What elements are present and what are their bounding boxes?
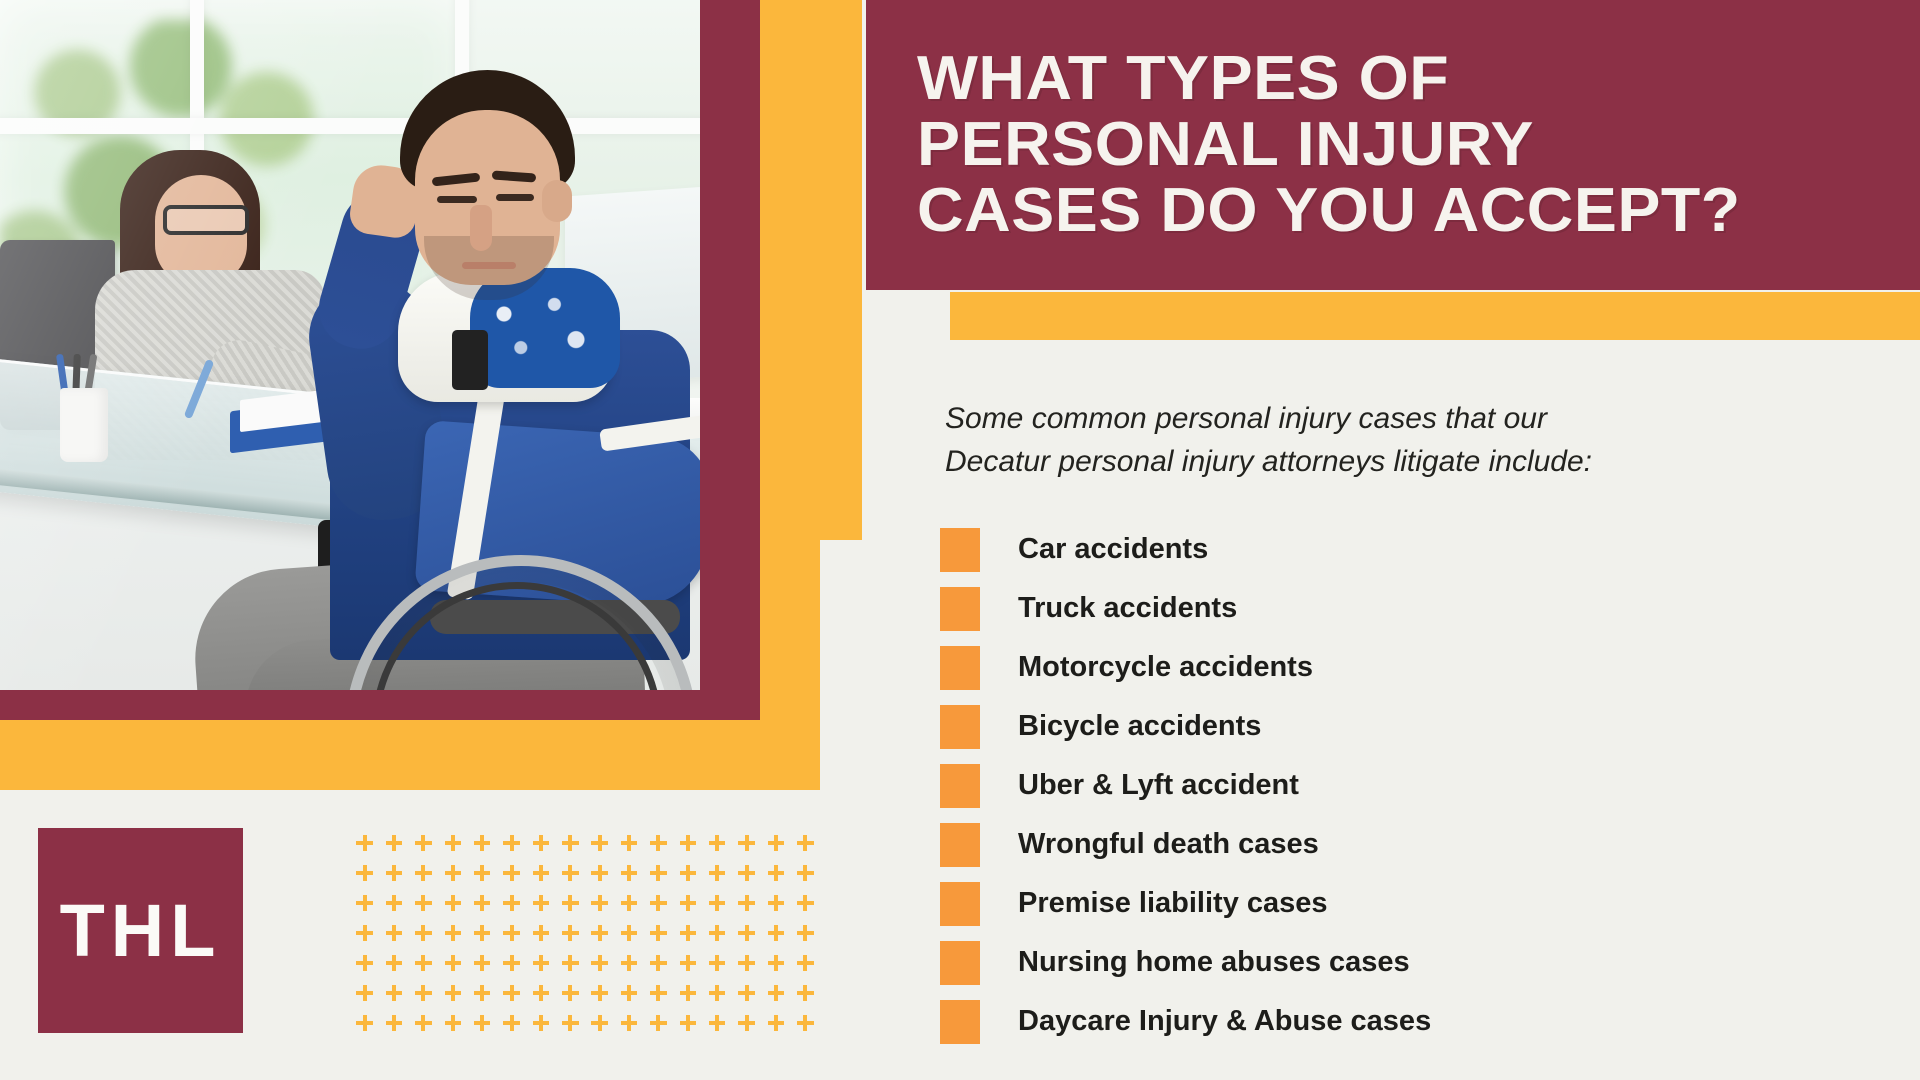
plus-icon xyxy=(761,948,790,978)
plus-icon xyxy=(438,858,467,888)
plus-icon xyxy=(644,918,673,948)
neck-brace-clip xyxy=(452,330,488,390)
plus-icon xyxy=(556,918,585,948)
plus-icon xyxy=(673,1008,702,1038)
plus-icon xyxy=(556,948,585,978)
plus-icon xyxy=(526,828,555,858)
neck-brace-pattern xyxy=(480,290,600,370)
plus-icon xyxy=(761,858,790,888)
list-item-label: Motorcycle accidents xyxy=(1018,651,1313,684)
square-bullet-icon xyxy=(940,587,980,631)
plus-icon xyxy=(732,948,761,978)
plus-icon xyxy=(438,918,467,948)
plus-icon xyxy=(438,948,467,978)
plus-icon xyxy=(379,918,408,948)
plus-icon xyxy=(791,948,820,978)
plus-icon xyxy=(438,1008,467,1038)
plus-icon xyxy=(526,888,555,918)
plus-icon xyxy=(761,978,790,1008)
plus-icon xyxy=(468,918,497,948)
plus-icon xyxy=(791,918,820,948)
plus-icon xyxy=(526,858,555,888)
plus-icon xyxy=(644,828,673,858)
plus-icon xyxy=(614,828,643,858)
plus-icon xyxy=(350,918,379,948)
plus-icon xyxy=(585,948,614,978)
plus-icon xyxy=(468,978,497,1008)
plus-icon xyxy=(468,828,497,858)
square-bullet-icon xyxy=(940,1000,980,1044)
cross-pattern-decoration xyxy=(350,828,820,1038)
plus-icon xyxy=(409,978,438,1008)
list-item: Premise liability cases xyxy=(940,874,1840,933)
plus-icon xyxy=(585,828,614,858)
plus-icon xyxy=(644,1008,673,1038)
logo: THL xyxy=(38,828,243,1033)
plus-icon xyxy=(497,828,526,858)
plus-icon xyxy=(468,948,497,978)
infographic-canvas: WHAT TYPES OF PERSONAL INJURY CASES DO Y… xyxy=(0,0,1920,1080)
page-title: WHAT TYPES OF PERSONAL INJURY CASES DO Y… xyxy=(890,46,1741,243)
plus-icon xyxy=(673,978,702,1008)
plus-icon xyxy=(556,858,585,888)
plus-icon xyxy=(673,828,702,858)
list-item-label: Car accidents xyxy=(1018,533,1208,566)
title-yellow-strip xyxy=(820,0,862,540)
case-types-list: Car accidents Truck accidents Motorcycle… xyxy=(940,520,1840,1051)
plus-icon xyxy=(526,1008,555,1038)
square-bullet-icon xyxy=(940,882,980,926)
logo-text: THL xyxy=(60,888,222,973)
plus-icon xyxy=(497,948,526,978)
plus-icon xyxy=(556,1008,585,1038)
list-item: Daycare Injury & Abuse cases xyxy=(940,992,1840,1051)
plus-icon xyxy=(409,858,438,888)
plus-icon xyxy=(556,828,585,858)
plus-icon xyxy=(409,888,438,918)
list-item-label: Daycare Injury & Abuse cases xyxy=(1018,1005,1431,1038)
plus-icon xyxy=(409,828,438,858)
page-title-line-2: PERSONAL INJURY xyxy=(917,112,1741,178)
plus-icon xyxy=(556,978,585,1008)
plus-icon xyxy=(703,858,732,888)
list-item: Wrongful death cases xyxy=(940,815,1840,874)
plus-icon xyxy=(703,978,732,1008)
plus-icon xyxy=(438,888,467,918)
plus-icon xyxy=(732,978,761,1008)
list-item: Motorcycle accidents xyxy=(940,638,1840,697)
plus-icon xyxy=(644,948,673,978)
page-title-line-3: CASES DO YOU ACCEPT? xyxy=(917,178,1741,244)
subtitle-line-2: Decatur personal injury attorneys litiga… xyxy=(945,441,1805,484)
plus-icon xyxy=(703,828,732,858)
subtitle-line-1: Some common personal injury cases that o… xyxy=(945,398,1805,441)
plus-icon xyxy=(379,828,408,858)
plus-icon xyxy=(761,828,790,858)
photo-scene xyxy=(0,0,700,690)
plus-icon xyxy=(732,888,761,918)
plus-icon xyxy=(526,948,555,978)
plus-icon xyxy=(409,948,438,978)
list-item-label: Bicycle accidents xyxy=(1018,710,1261,743)
list-item-label: Uber & Lyft accident xyxy=(1018,769,1299,802)
list-item-label: Wrongful death cases xyxy=(1018,828,1319,861)
title-maroon-left-strip xyxy=(866,0,892,290)
list-item-label: Nursing home abuses cases xyxy=(1018,946,1410,979)
plus-icon xyxy=(379,1008,408,1038)
plus-icon xyxy=(732,1008,761,1038)
plus-icon xyxy=(379,948,408,978)
plus-icon xyxy=(703,1008,732,1038)
square-bullet-icon xyxy=(940,646,980,690)
plus-icon xyxy=(614,978,643,1008)
plus-icon xyxy=(526,978,555,1008)
plus-icon xyxy=(585,978,614,1008)
plus-icon xyxy=(791,1008,820,1038)
plus-icon xyxy=(791,978,820,1008)
square-bullet-icon xyxy=(940,528,980,572)
plus-icon xyxy=(526,918,555,948)
plus-icon xyxy=(497,858,526,888)
window-mullion-horizontal xyxy=(0,118,700,134)
plus-icon xyxy=(791,888,820,918)
plus-icon xyxy=(379,978,408,1008)
plus-icon xyxy=(556,888,585,918)
square-bullet-icon xyxy=(940,941,980,985)
attorney-glasses xyxy=(163,205,249,235)
plus-icon xyxy=(673,858,702,888)
plus-icon xyxy=(703,888,732,918)
plus-icon xyxy=(614,1008,643,1038)
list-item: Truck accidents xyxy=(940,579,1840,638)
plus-icon xyxy=(614,948,643,978)
list-item-label: Truck accidents xyxy=(1018,592,1237,625)
list-item-label: Premise liability cases xyxy=(1018,887,1328,920)
plus-icon xyxy=(732,858,761,888)
plus-icon xyxy=(468,888,497,918)
plus-icon xyxy=(585,888,614,918)
plus-icon xyxy=(585,1008,614,1038)
client-nose xyxy=(470,205,492,251)
subtitle: Some common personal injury cases that o… xyxy=(945,398,1805,483)
square-bullet-icon xyxy=(940,705,980,749)
list-item: Uber & Lyft accident xyxy=(940,756,1840,815)
plus-icon xyxy=(761,918,790,948)
plus-icon xyxy=(644,978,673,1008)
plus-icon xyxy=(585,858,614,888)
plus-icon xyxy=(497,918,526,948)
list-item: Car accidents xyxy=(940,520,1840,579)
plus-icon xyxy=(350,978,379,1008)
plus-icon xyxy=(614,888,643,918)
plus-icon xyxy=(350,888,379,918)
plus-icon xyxy=(379,858,408,888)
plus-icon xyxy=(644,888,673,918)
hero-photo xyxy=(0,0,700,690)
plus-icon xyxy=(409,918,438,948)
plus-icon xyxy=(497,1008,526,1038)
plus-icon xyxy=(497,978,526,1008)
title-band: WHAT TYPES OF PERSONAL INJURY CASES DO Y… xyxy=(890,0,1920,290)
client-eye xyxy=(437,196,477,203)
page-title-line-1: WHAT TYPES OF xyxy=(917,46,1741,112)
plus-icon xyxy=(350,828,379,858)
plus-icon xyxy=(732,828,761,858)
client-ear xyxy=(542,180,572,222)
plus-icon xyxy=(614,918,643,948)
plus-icon xyxy=(673,888,702,918)
plus-icon xyxy=(673,948,702,978)
plus-icon xyxy=(350,1008,379,1038)
plus-icon xyxy=(468,1008,497,1038)
plus-icon xyxy=(350,948,379,978)
client-mouth xyxy=(462,262,516,269)
plus-icon xyxy=(791,858,820,888)
plus-icon xyxy=(468,858,497,888)
plus-icon xyxy=(732,918,761,948)
plus-icon xyxy=(350,858,379,888)
client-eye xyxy=(496,194,534,201)
plus-icon xyxy=(438,978,467,1008)
plus-icon xyxy=(409,1008,438,1038)
pen-holder-cup xyxy=(60,388,108,462)
square-bullet-icon xyxy=(940,823,980,867)
plus-icon xyxy=(614,858,643,888)
plus-icon xyxy=(644,858,673,888)
plus-icon xyxy=(761,888,790,918)
plus-icon xyxy=(379,888,408,918)
list-item: Nursing home abuses cases xyxy=(940,933,1840,992)
title-accent-bar xyxy=(950,292,1920,340)
square-bullet-icon xyxy=(940,764,980,808)
plus-icon xyxy=(791,828,820,858)
list-item: Bicycle accidents xyxy=(940,697,1840,756)
plus-icon xyxy=(673,918,702,948)
plus-icon xyxy=(585,918,614,948)
plus-icon xyxy=(761,1008,790,1038)
plus-icon xyxy=(703,918,732,948)
plus-icon xyxy=(497,888,526,918)
plus-icon xyxy=(438,828,467,858)
plus-icon xyxy=(703,948,732,978)
